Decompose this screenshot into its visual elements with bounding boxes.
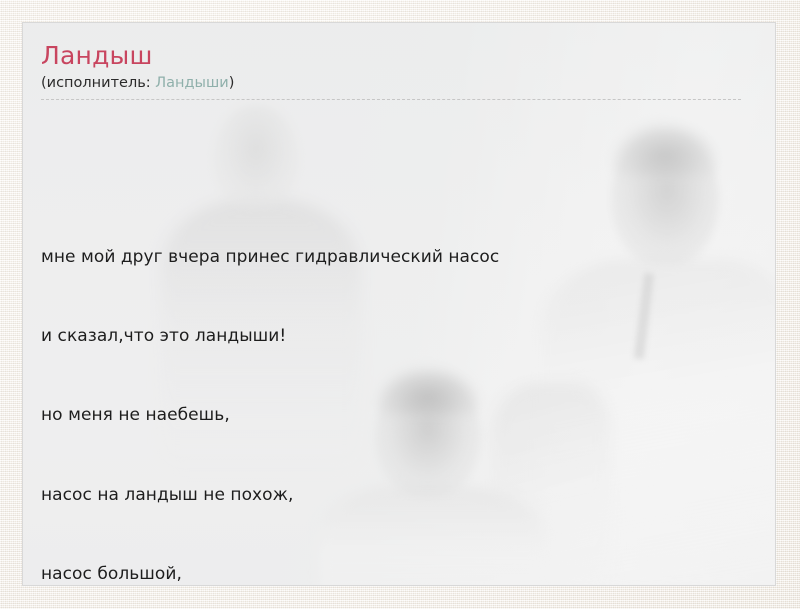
lyric-line: и сказал,что это ландыши! xyxy=(41,323,749,349)
performer-suffix-label: ) xyxy=(229,75,235,91)
lyric-line: мне мой друг вчера принес гидравлический… xyxy=(41,244,749,270)
lyric-line: но меня не наебешь, xyxy=(41,402,749,428)
performer-line: (исполнитель: Ландыши) xyxy=(41,73,749,99)
lyrics-stanza: мне мой друг вчера принес гидравлический… xyxy=(41,191,749,586)
lyrics-card: Ландыш (исполнитель: Ландыши) мне мой др… xyxy=(22,22,776,586)
performer-link[interactable]: Ландыши xyxy=(155,75,228,91)
lyric-line: насос на ландыш не похож, xyxy=(41,482,749,508)
performer-prefix-label: (исполнитель: xyxy=(41,75,155,91)
card-content: Ландыш (исполнитель: Ландыши) мне мой др… xyxy=(23,23,775,586)
song-title: Ландыш xyxy=(41,41,749,71)
header-divider xyxy=(41,99,741,100)
lyrics-body: мне мой друг вчера принес гидравлический… xyxy=(41,112,749,586)
lyric-line: насос большой, xyxy=(41,561,749,586)
